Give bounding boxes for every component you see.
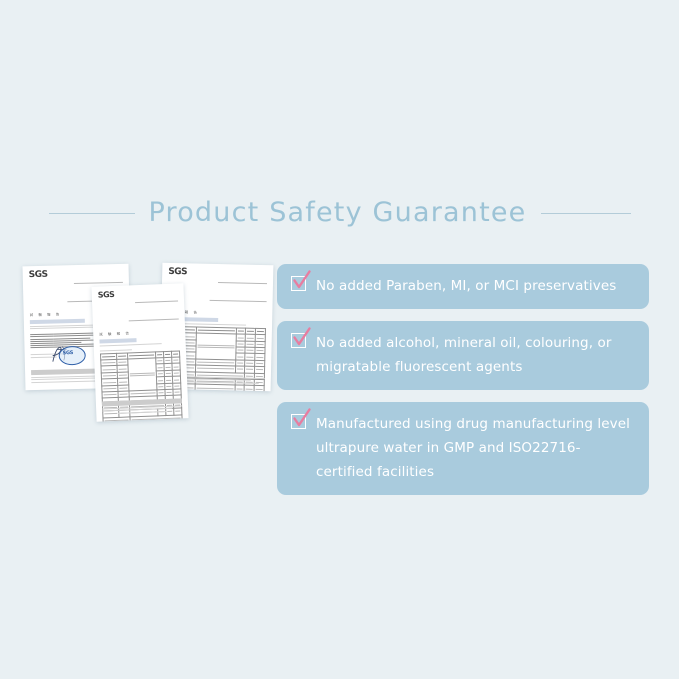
certificate-highlight-1: [30, 319, 85, 324]
checkbox-checked-icon-1[interactable]: [291, 276, 306, 291]
guarantee-text-2: No added alcohol, mineral oil, colouring…: [316, 331, 635, 379]
certificate-subtitle-2: 試 験 報 告: [99, 328, 179, 336]
guarantee-text-3: Manufactured using drug manufacturing le…: [316, 412, 635, 484]
guarantee-item-2[interactable]: No added alcohol, mineral oil, colouring…: [277, 321, 649, 390]
check-icon: [291, 408, 313, 430]
check-icon: [291, 270, 313, 292]
certificate-document-2[interactable]: SGS 試 験 報 告: [91, 283, 188, 421]
check-icon: [291, 327, 313, 349]
checkbox-checked-icon-2[interactable]: [291, 333, 306, 348]
guarantee-text-1: No added Paraben, MI, or MCI preservativ…: [316, 274, 616, 298]
guarantee-list: No added Paraben, MI, or MCI preservativ…: [277, 264, 649, 507]
sgs-seal-stamp: SGS: [50, 344, 85, 366]
product-safety-guarantee-page: Product Safety Guarantee SGS 試 験 報 告: [0, 0, 679, 679]
certificate-gallery: SGS 試 験 報 告: [0, 0, 300, 460]
guarantee-item-1[interactable]: No added Paraben, MI, or MCI preservativ…: [277, 264, 649, 309]
guarantee-item-3[interactable]: Manufactured using drug manufacturing le…: [277, 402, 649, 495]
certificate-highlight-2: [99, 338, 136, 343]
checkbox-checked-icon-3[interactable]: [291, 414, 306, 429]
title-divider-right: [541, 213, 631, 214]
